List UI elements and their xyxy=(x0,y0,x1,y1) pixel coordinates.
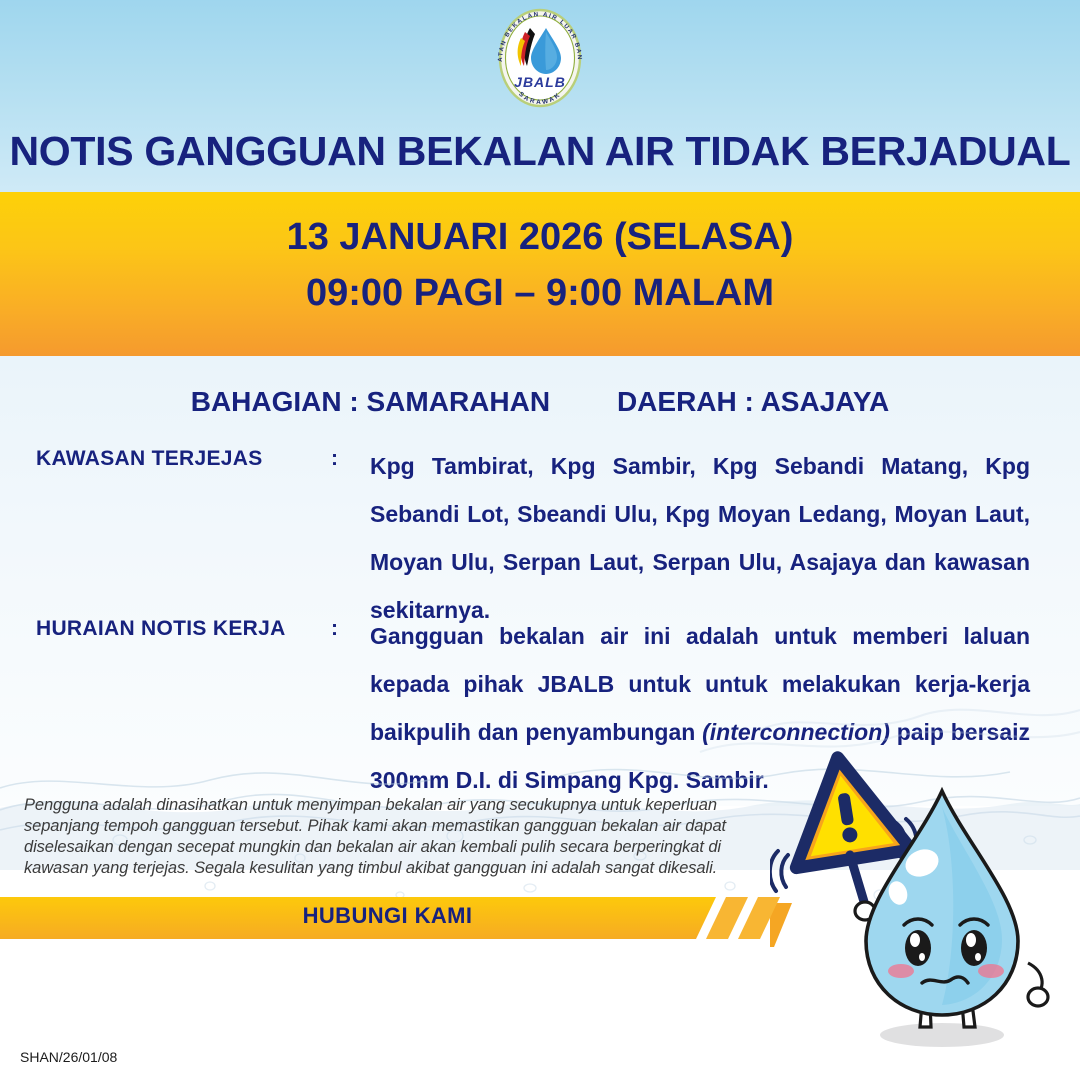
jbalb-logo: JABATAN BEKALAN AIR LUAR BANDAR SARAWAK … xyxy=(489,6,591,110)
header-section: JABATAN BEKALAN AIR LUAR BANDAR SARAWAK … xyxy=(0,0,1080,192)
district-label: DAERAH : ASAJAYA xyxy=(617,386,889,417)
notice-time: 09:00 PAGI – 9:00 MALAM xyxy=(0,272,1080,315)
work-description-colon: : xyxy=(331,617,338,641)
affected-areas-colon: : xyxy=(331,447,338,471)
advisory-text: Pengguna adalah dinasihatkan untuk menyi… xyxy=(24,795,774,879)
notice-date: 13 JANUARI 2026 (SELASA) xyxy=(0,216,1080,259)
notice-poster: JABATAN BEKALAN AIR LUAR BANDAR SARAWAK … xyxy=(0,0,1080,1080)
division-label: BAHAGIAN : SAMARAHAN xyxy=(191,386,550,417)
page-title: NOTIS GANGGUAN BEKALAN AIR TIDAK BERJADU… xyxy=(0,128,1080,175)
work-description-label: HURAIAN NOTIS KERJA xyxy=(36,617,286,641)
region-row: BAHAGIAN : SAMARAHAN DAERAH : ASAJAYA xyxy=(0,386,1080,418)
reference-code: SHAN/26/01/08 xyxy=(20,1049,117,1065)
contact-banner-title: HUBUNGI KAMI xyxy=(0,903,775,929)
svg-text:JBALB: JBALB xyxy=(514,74,566,90)
affected-areas-label: KAWASAN TERJEJAS xyxy=(36,447,263,471)
contact-section: CALL CENTRE JBALB SARAWAK 082-262 211 JB… xyxy=(0,940,1080,1080)
affected-areas-value: Kpg Tambirat, Kpg Sambir, Kpg Sebandi Ma… xyxy=(370,442,1030,634)
